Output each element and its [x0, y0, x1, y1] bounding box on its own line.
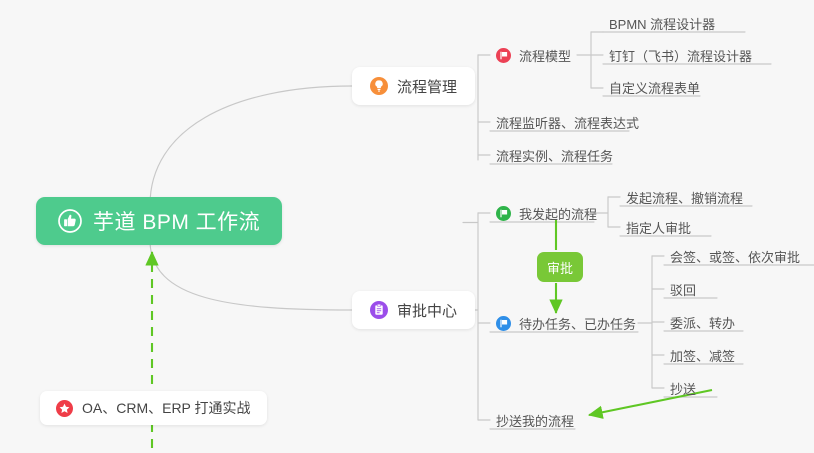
node-start-cancel-process[interactable]: 发起流程、撤销流程	[622, 184, 748, 210]
clipboard-icon	[370, 301, 388, 319]
node-label-cc-to-me-process: 抄送我的流程	[496, 411, 574, 430]
node-process-model[interactable]: 流程模型	[492, 42, 576, 68]
thumbs-up-icon	[58, 209, 82, 233]
node-label-reject: 驳回	[670, 280, 696, 299]
node-label-cc: 抄送	[670, 379, 696, 398]
node-label-my-initiated-process: 我发起的流程	[519, 204, 597, 223]
node-my-initiated-process[interactable]: 我发起的流程	[492, 200, 602, 226]
approval-badge: 审批	[537, 252, 583, 282]
node-label-start-cancel-process: 发起流程、撤销流程	[626, 188, 743, 207]
node-cc[interactable]: 抄送	[666, 375, 701, 401]
floating-node-label-oa-crm-erp: OA、CRM、ERP 打通实战	[82, 398, 251, 418]
node-process-instance-task[interactable]: 流程实例、流程任务	[492, 142, 618, 168]
node-custom-process-form[interactable]: 自定义流程表单	[605, 74, 705, 100]
branch-node-approval-center[interactable]: 审批中心	[352, 291, 475, 329]
star-icon	[56, 400, 73, 417]
branch-node-process-management[interactable]: 流程管理	[352, 67, 475, 105]
node-label-process-instance-task: 流程实例、流程任务	[496, 146, 613, 165]
node-delegate-transfer[interactable]: 委派、转办	[666, 309, 740, 335]
node-label-assignee-approval: 指定人审批	[626, 218, 691, 237]
node-label-delegate-transfer: 委派、转办	[670, 313, 735, 332]
node-label-counter-or-sequential-sign: 会签、或签、依次审批	[670, 247, 800, 266]
approval-badge-label: 审批	[547, 258, 573, 277]
branch-label-process-management: 流程管理	[397, 76, 457, 97]
node-label-process-listener-expression: 流程监听器、流程表达式	[496, 113, 639, 132]
node-bpmn-designer[interactable]: BPMN 流程设计器	[605, 10, 720, 36]
node-label-custom-process-form: 自定义流程表单	[609, 78, 700, 97]
edge-root-to-approval-center	[150, 240, 352, 310]
node-assignee-approval[interactable]: 指定人审批	[622, 214, 696, 240]
lightbulb-icon	[370, 77, 388, 95]
node-label-bpmn-designer: BPMN 流程设计器	[609, 14, 715, 33]
flag-blue-icon	[496, 316, 511, 331]
node-process-listener-expression[interactable]: 流程监听器、流程表达式	[492, 109, 644, 135]
node-reject[interactable]: 驳回	[666, 276, 701, 302]
node-label-add-remove-sign: 加签、减签	[670, 346, 735, 365]
node-label-todo-done-task: 待办任务、已办任务	[519, 314, 636, 333]
node-add-remove-sign[interactable]: 加签、减签	[666, 342, 740, 368]
flag-green-icon	[496, 206, 511, 221]
root-node[interactable]: 芋道 BPM 工作流	[36, 197, 282, 245]
floating-node-oa-crm-erp[interactable]: OA、CRM、ERP 打通实战	[40, 391, 267, 425]
node-label-dingtalk-feishu-designer: 钉钉（飞书）流程设计器	[609, 46, 752, 65]
node-cc-to-me-process[interactable]: 抄送我的流程	[492, 407, 579, 433]
edge-root-to-process-management	[150, 86, 352, 205]
root-label: 芋道 BPM 工作流	[93, 206, 260, 236]
node-label-process-model: 流程模型	[519, 46, 571, 65]
flag-red-icon	[496, 48, 511, 63]
node-todo-done-task[interactable]: 待办任务、已办任务	[492, 310, 641, 336]
mindmap-canvas: 芋道 BPM 工作流 流程管理 流程模型 流程监听器、流程表达式 流程实例、流	[0, 0, 814, 453]
node-dingtalk-feishu-designer[interactable]: 钉钉（飞书）流程设计器	[605, 42, 757, 68]
branch-label-approval-center: 审批中心	[397, 300, 457, 321]
node-counter-or-sequential-sign[interactable]: 会签、或签、依次审批	[666, 243, 805, 269]
